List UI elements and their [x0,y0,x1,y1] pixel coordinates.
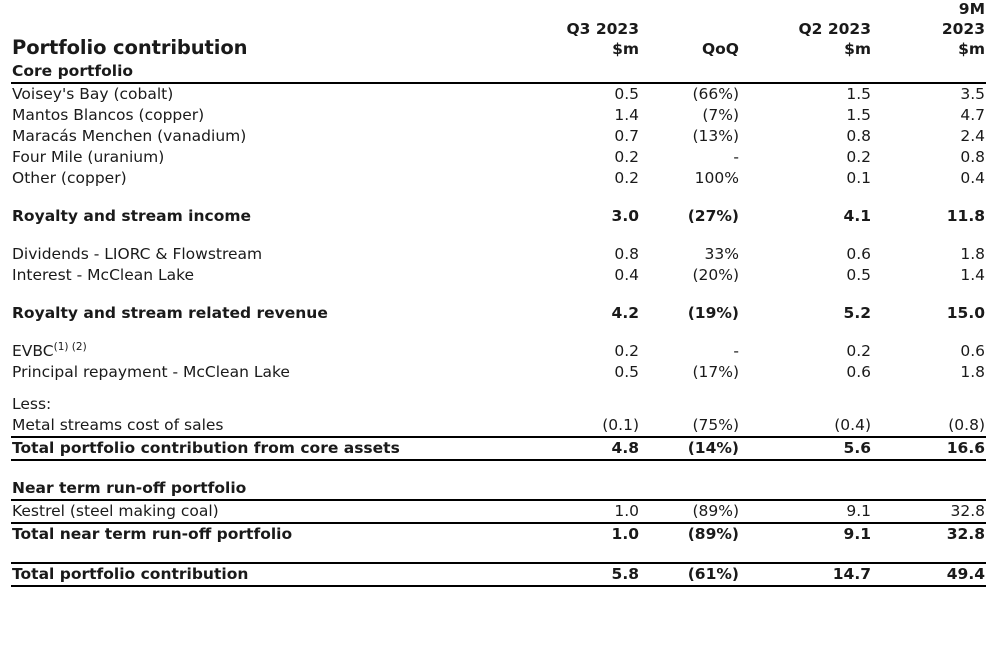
row-value-q3: 5.8 [558,563,640,586]
row-value-q3: (0.1) [558,415,640,437]
table-row: Interest - McClean Lake 0.4 (20%) 0.5 1.… [11,265,986,286]
row-label: Kestrel (steel making coal) [11,500,558,523]
page-title: Portfolio contribution [11,0,558,61]
row-value-qoq: - [640,147,740,168]
column-header-9m-line1: 9M [872,0,985,20]
row-value-qoq: 100% [640,168,740,189]
column-header-q2-line2: $m [740,40,871,60]
row-value-q3: 3.0 [558,206,640,227]
row-value-q3: 4.2 [558,303,640,324]
row-label: Principal repayment - McClean Lake [11,362,558,383]
row-value-q2: 0.6 [740,362,872,383]
row-label: Total near term run-off portfolio [11,523,558,545]
row-value-qoq: (19%) [640,303,740,324]
column-header-qoq-line2: QoQ [640,40,739,60]
row-spacer [11,189,986,206]
row-value-9m: 0.4 [872,168,986,189]
row-value-9m: 49.4 [872,563,986,586]
row-value-q3: 4.8 [558,437,640,460]
footnote-markers: (1) (2) [54,341,87,353]
row-value-q3: 1.0 [558,500,640,523]
row-label: Total portfolio contribution [11,563,558,586]
row-value-qoq: (27%) [640,206,740,227]
row-value-q3: 0.2 [558,168,640,189]
row-value-q2: 0.2 [740,147,872,168]
row-value-9m: 16.6 [872,437,986,460]
table-row: Dividends - LIORC & Flowstream 0.8 33% 0… [11,244,986,265]
row-spacer [11,324,986,341]
row-value-q2: 0.6 [740,244,872,265]
row-value-q2: (0.4) [740,415,872,437]
row-value-q2: 0.1 [740,168,872,189]
row-value-q3: 0.2 [558,341,640,362]
column-header-9m-line2: 2023 [872,20,985,40]
row-value-9m: 4.7 [872,105,986,126]
row-label: Metal streams cost of sales [11,415,558,437]
row-label: Voisey's Bay (cobalt) [11,83,558,105]
row-label: EVBC(1) (2) [11,341,558,362]
row-value-9m: 2.4 [872,126,986,147]
row-label-text: EVBC [12,342,54,360]
row-value-9m: 1.8 [872,244,986,265]
row-value-qoq: (17%) [640,362,740,383]
row-value-qoq: (14%) [640,437,740,460]
row-value-qoq: - [640,341,740,362]
subtotal-row-royalty-and-stream-income: Royalty and stream income 3.0 (27%) 4.1 … [11,206,986,227]
row-value-q2: 5.2 [740,303,872,324]
row-label: Interest - McClean Lake [11,265,558,286]
row-value-9m: 11.8 [872,206,986,227]
section-heading-near-term-run-off: Near term run-off portfolio [11,478,986,500]
row-value-qoq: 33% [640,244,740,265]
row-spacer [11,227,986,244]
row-value-qoq: (13%) [640,126,740,147]
row-label: Total portfolio contribution from core a… [11,437,558,460]
table-header-row: Portfolio contribution Q3 2023 $m QoQ Q2… [11,0,986,61]
column-header-q3-line2: $m [558,40,639,60]
row-value-9m: (0.8) [872,415,986,437]
row-value-q3: 0.4 [558,265,640,286]
row-value-q3: 0.8 [558,244,640,265]
total-row-near-term-run-off: Total near term run-off portfolio 1.0 (8… [11,523,986,545]
row-value-q2: 9.1 [740,523,872,545]
table-row-evbc: EVBC(1) (2) 0.2 - 0.2 0.6 [11,341,986,362]
row-value-qoq: (89%) [640,500,740,523]
portfolio-contribution-table: Portfolio contribution Q3 2023 $m QoQ Q2… [11,0,986,587]
column-header-q3: Q3 2023 $m [558,0,640,61]
row-value-9m: 32.8 [872,523,986,545]
row-value-q2: 1.5 [740,105,872,126]
table-row: Kestrel (steel making coal) 1.0 (89%) 9.… [11,500,986,523]
row-label: Mantos Blancos (copper) [11,105,558,126]
row-value-9m: 32.8 [872,500,986,523]
row-value-q2: 14.7 [740,563,872,586]
column-header-qoq: QoQ [640,0,740,61]
column-header-q3-line1: Q3 2023 [558,20,639,40]
row-spacer [11,383,986,394]
row-value-9m: 0.6 [872,341,986,362]
row-value-q2: 5.6 [740,437,872,460]
row-value-q2: 4.1 [740,206,872,227]
row-value-q3: 0.2 [558,147,640,168]
row-spacer [11,460,986,478]
table-row: Principal repayment - McClean Lake 0.5 (… [11,362,986,383]
row-value-9m: 1.4 [872,265,986,286]
section-heading-core-portfolio: Core portfolio [11,61,986,83]
row-value-q2: 9.1 [740,500,872,523]
total-row-core-assets: Total portfolio contribution from core a… [11,437,986,460]
row-value-q3: 0.7 [558,126,640,147]
row-value-q2: 1.5 [740,83,872,105]
row-value-9m: 3.5 [872,83,986,105]
row-label: Four Mile (uranium) [11,147,558,168]
table-row: Voisey's Bay (cobalt) 0.5 (66%) 1.5 3.5 [11,83,986,105]
row-value-qoq: (89%) [640,523,740,545]
row-value-9m: 15.0 [872,303,986,324]
table-row: Maracás Menchen (vanadium) 0.7 (13%) 0.8… [11,126,986,147]
row-label: Dividends - LIORC & Flowstream [11,244,558,265]
row-value-q2: 0.2 [740,341,872,362]
subtotal-row-royalty-and-stream-related-revenue: Royalty and stream related revenue 4.2 (… [11,303,986,324]
row-value-q3: 1.0 [558,523,640,545]
column-header-9m: 9M 2023 $m [872,0,986,61]
row-spacer [11,286,986,303]
row-value-qoq: (20%) [640,265,740,286]
table-row: Other (copper) 0.2 100% 0.1 0.4 [11,168,986,189]
column-header-q2: Q2 2023 $m [740,0,872,61]
table-row: Metal streams cost of sales (0.1) (75%) … [11,415,986,437]
row-value-qoq: (61%) [640,563,740,586]
row-value-q3: 1.4 [558,105,640,126]
row-value-qoq: (75%) [640,415,740,437]
section-heading-near-term-run-off-label: Near term run-off portfolio [11,478,558,500]
portfolio-contribution-table-sheet: Portfolio contribution Q3 2023 $m QoQ Q2… [0,0,1000,645]
row-label: Other (copper) [11,168,558,189]
row-value-q2: 0.8 [740,126,872,147]
section-heading-less: Less: [11,394,986,415]
row-value-qoq: (66%) [640,83,740,105]
row-value-q2: 0.5 [740,265,872,286]
column-header-q2-line1: Q2 2023 [740,20,871,40]
row-value-qoq: (7%) [640,105,740,126]
row-label: Royalty and stream related revenue [11,303,558,324]
row-value-q3: 0.5 [558,83,640,105]
row-value-q3: 0.5 [558,362,640,383]
section-heading-core-portfolio-label: Core portfolio [11,61,558,83]
row-label: Maracás Menchen (vanadium) [11,126,558,147]
column-header-9m-line3: $m [872,40,985,60]
table-row: Mantos Blancos (copper) 1.4 (7%) 1.5 4.7 [11,105,986,126]
table-row: Four Mile (uranium) 0.2 - 0.2 0.8 [11,147,986,168]
total-row-portfolio-contribution: Total portfolio contribution 5.8 (61%) 1… [11,563,986,586]
row-value-9m: 0.8 [872,147,986,168]
section-heading-less-label: Less: [11,394,558,415]
row-value-9m: 1.8 [872,362,986,383]
row-label: Royalty and stream income [11,206,558,227]
row-spacer [11,545,986,563]
